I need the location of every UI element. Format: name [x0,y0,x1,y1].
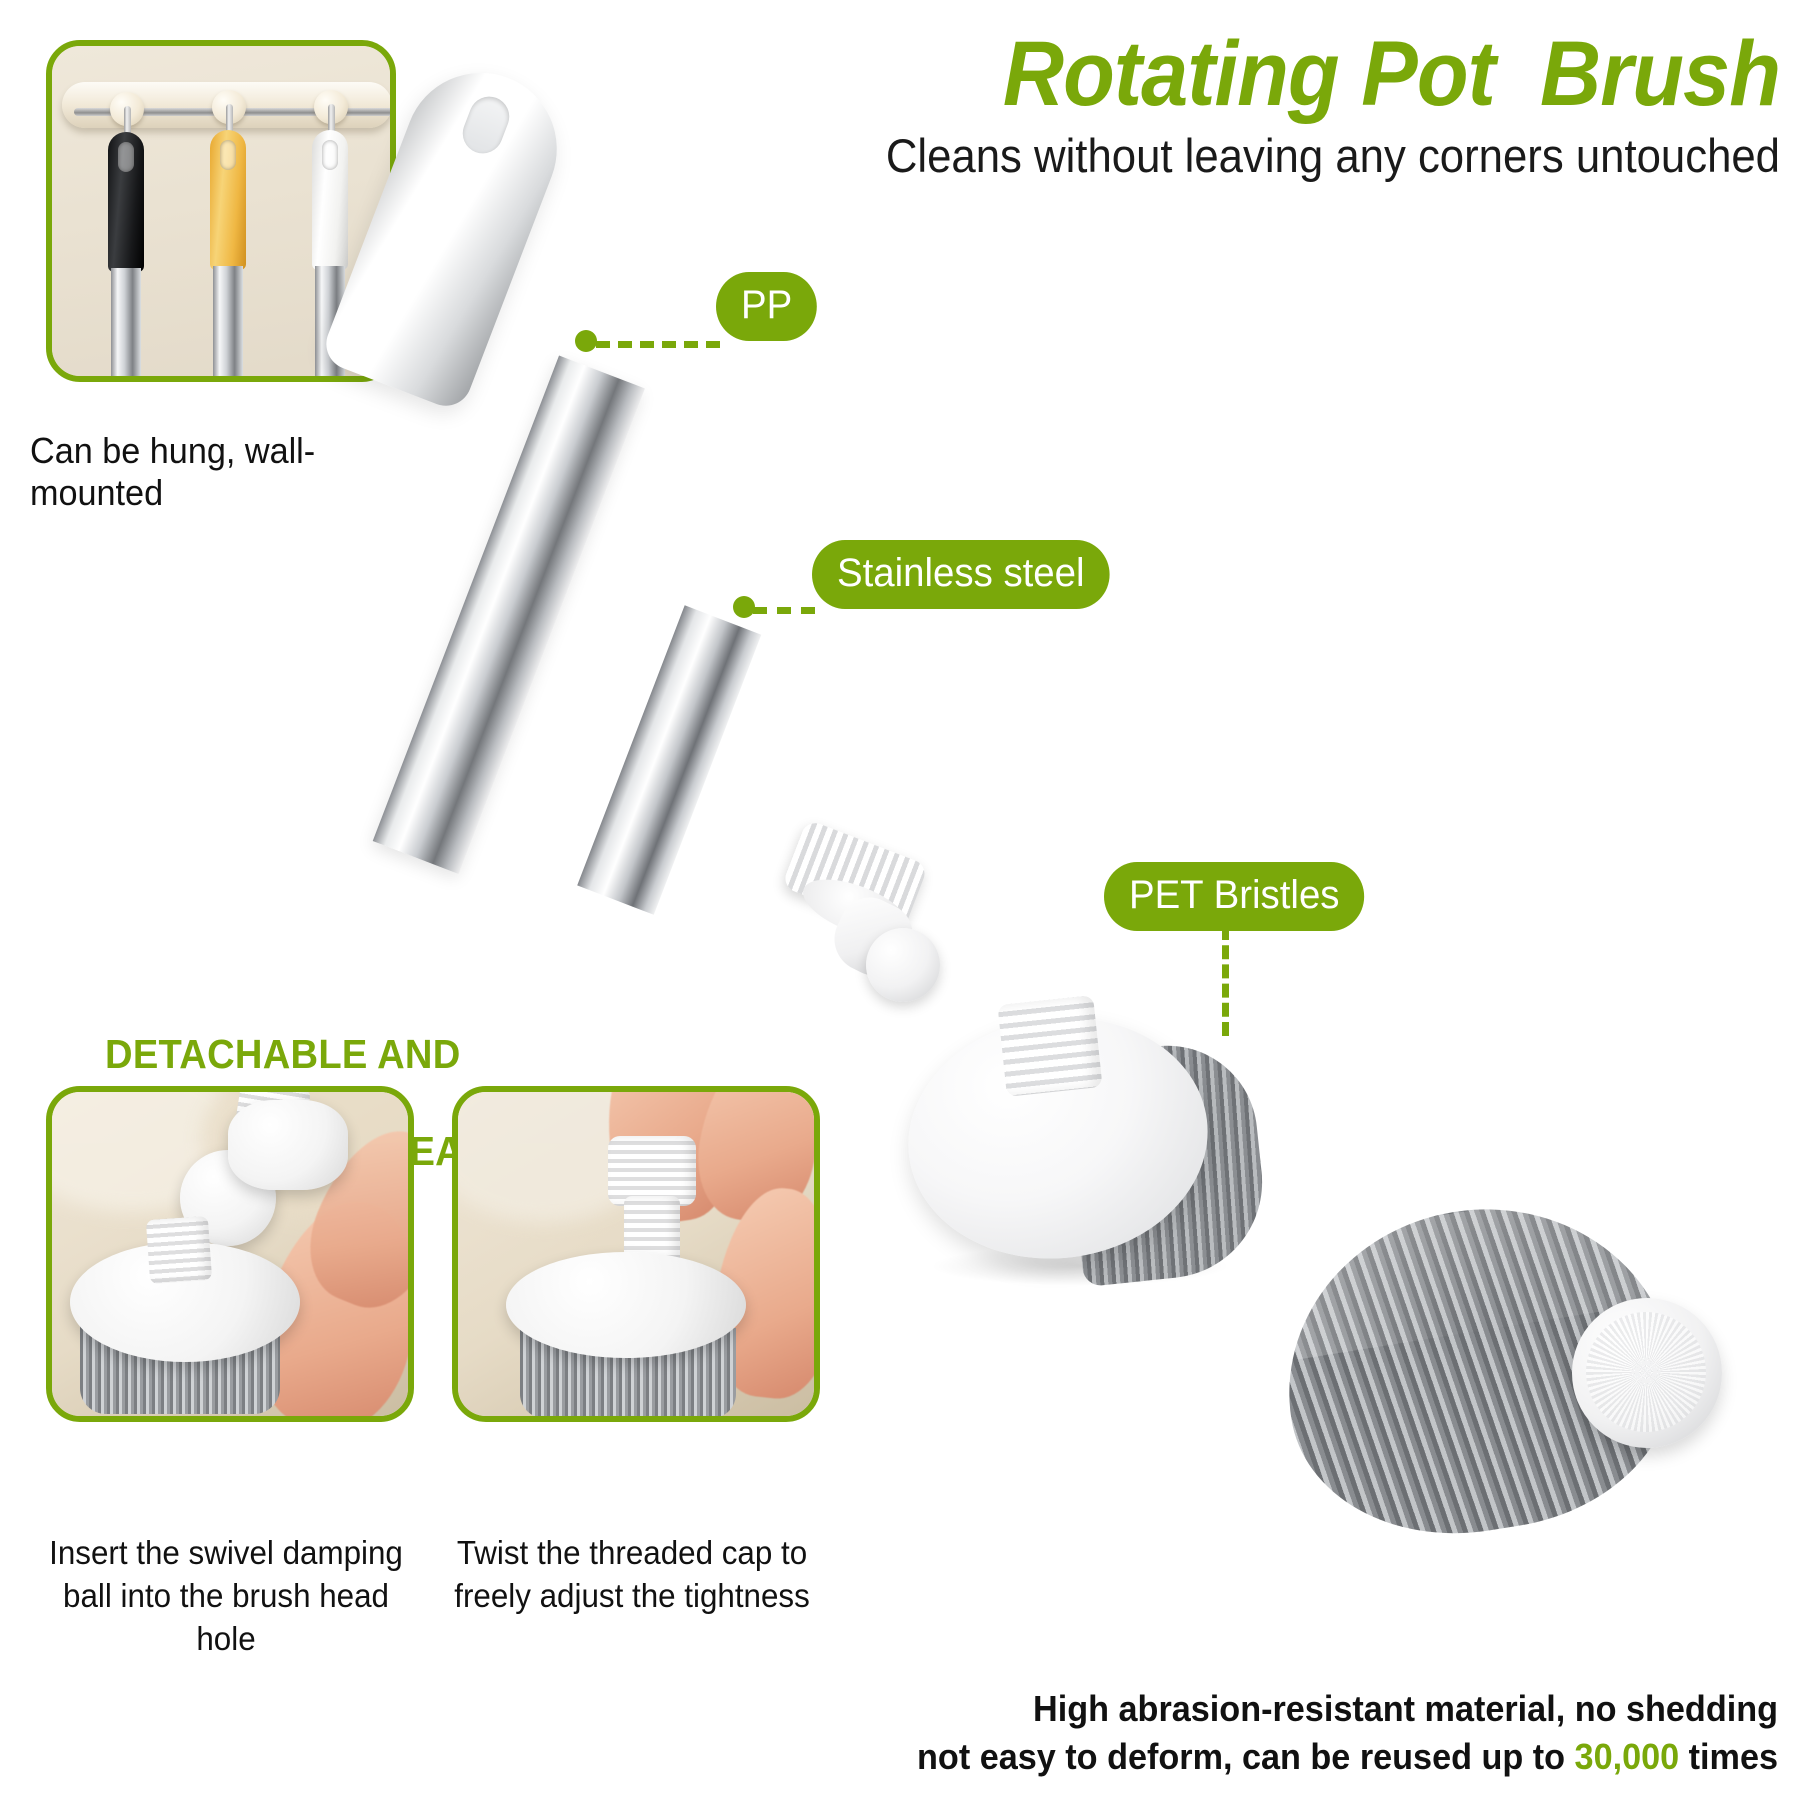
brush-rod [111,268,141,376]
brush-head-thread-socket [997,995,1102,1097]
step-1-caption-line-1: Insert the swivel damping [36,1532,416,1575]
footer-note-line-2: not easy to deform, can be reused up to … [714,1733,1778,1782]
callout-dot-stainless [733,596,755,618]
reuse-count-highlight: 30,000 [1575,1736,1680,1777]
step-2-caption-line-2: freely adjust the tightness [442,1575,822,1618]
handle-hole [322,140,338,170]
swivel-neck [228,1100,348,1190]
step-1-photo [52,1092,408,1416]
inset-photo-step-1 [46,1086,414,1422]
step-2-caption-line-1: Twist the threaded cap to [442,1532,822,1575]
inset-caption-hanging: Can be hung, wall-mounted [30,430,429,514]
inset-photo-step-2 [452,1086,820,1422]
callout-line-stainless [753,607,815,614]
callout-line-pet [1222,926,1229,1036]
swivel-damping-ball [866,928,940,1002]
handle-hole [220,140,236,170]
handle-hole [118,142,134,172]
callout-dot-pp [575,330,597,352]
bristle-closeup-head [1278,1180,1718,1540]
footer-note-prefix: not easy to deform, can be reused up to [917,1736,1575,1777]
infographic-canvas: Rotating Pot Brush Cleans without leavin… [0,0,1800,1800]
brush-head-disc [506,1252,746,1358]
callout-badge-pp[interactable]: PP [716,272,817,341]
brush-head-thread-socket [146,1216,212,1284]
footer-note: High abrasion-resistant material, no she… [714,1685,1778,1782]
page-subtitle: Cleans without leaving any corners untou… [701,128,1780,183]
stainless-steel-rod-lower [577,605,761,914]
callout-line-pp [596,341,720,348]
footer-note-line-1: High abrasion-resistant material, no she… [714,1685,1778,1734]
page-title: Rotating Pot Brush [786,28,1780,120]
step-2-photo [458,1092,814,1416]
brush-rod [213,266,243,376]
callout-badge-stainless[interactable]: Stainless steel [812,540,1110,609]
step-1-caption-line-2: ball into the brush head hole [36,1575,416,1661]
step-2-caption: Twist the threaded cap to freely adjust … [442,1532,822,1618]
step-1-caption: Insert the swivel damping ball into the … [36,1532,416,1661]
footer-note-suffix: times [1679,1736,1778,1777]
brush-head-cap-ridges [1586,1312,1706,1432]
callout-badge-pet[interactable]: PET Bristles [1104,862,1364,931]
